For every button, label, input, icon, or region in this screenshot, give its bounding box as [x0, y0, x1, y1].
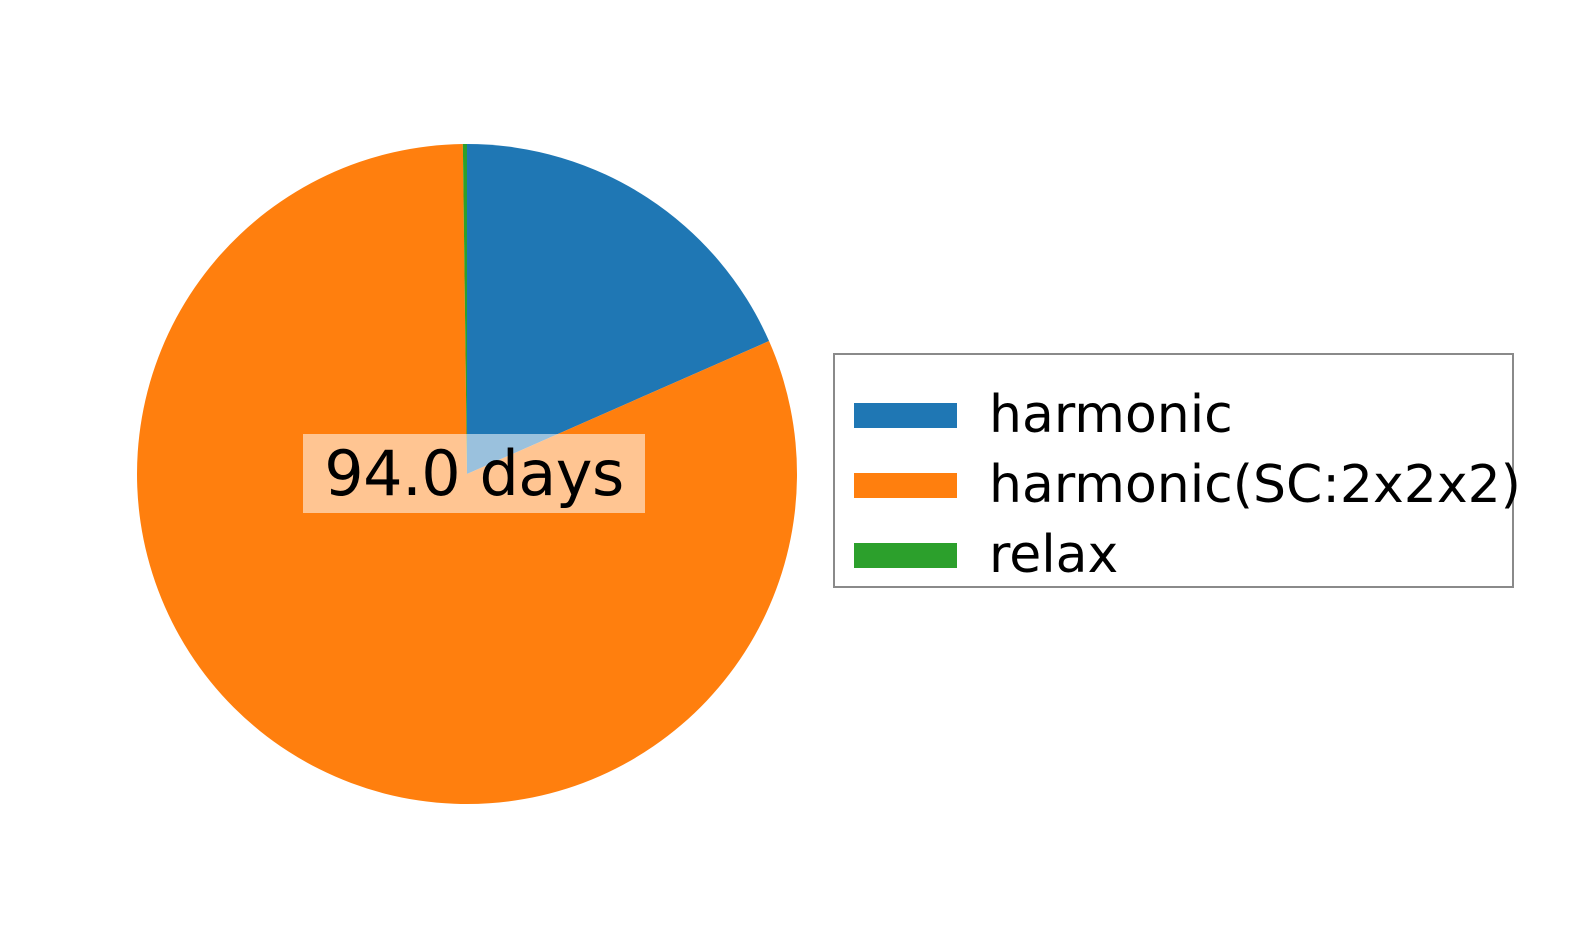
legend-swatch-harmonic: [854, 403, 957, 428]
legend-swatch-relax: [854, 543, 957, 568]
legend-label-harmonic: harmonic: [989, 389, 1233, 441]
legend-item-harmonic[interactable]: harmonic: [854, 380, 1512, 450]
legend-item-harmonic-sc[interactable]: harmonic(SC:2x2x2): [854, 450, 1512, 520]
legend-label-harmonic-sc: harmonic(SC:2x2x2): [989, 459, 1521, 511]
legend-label-relax: relax: [989, 529, 1118, 581]
figure-canvas: 94.0 days harmonic harmonic(SC:2x2x2) re…: [0, 0, 1584, 951]
pie-center-label: 94.0 days: [303, 434, 645, 513]
legend-swatch-harmonic-sc: [854, 473, 957, 498]
chart-legend: harmonic harmonic(SC:2x2x2) relax: [833, 353, 1514, 588]
legend-item-relax[interactable]: relax: [854, 520, 1512, 590]
